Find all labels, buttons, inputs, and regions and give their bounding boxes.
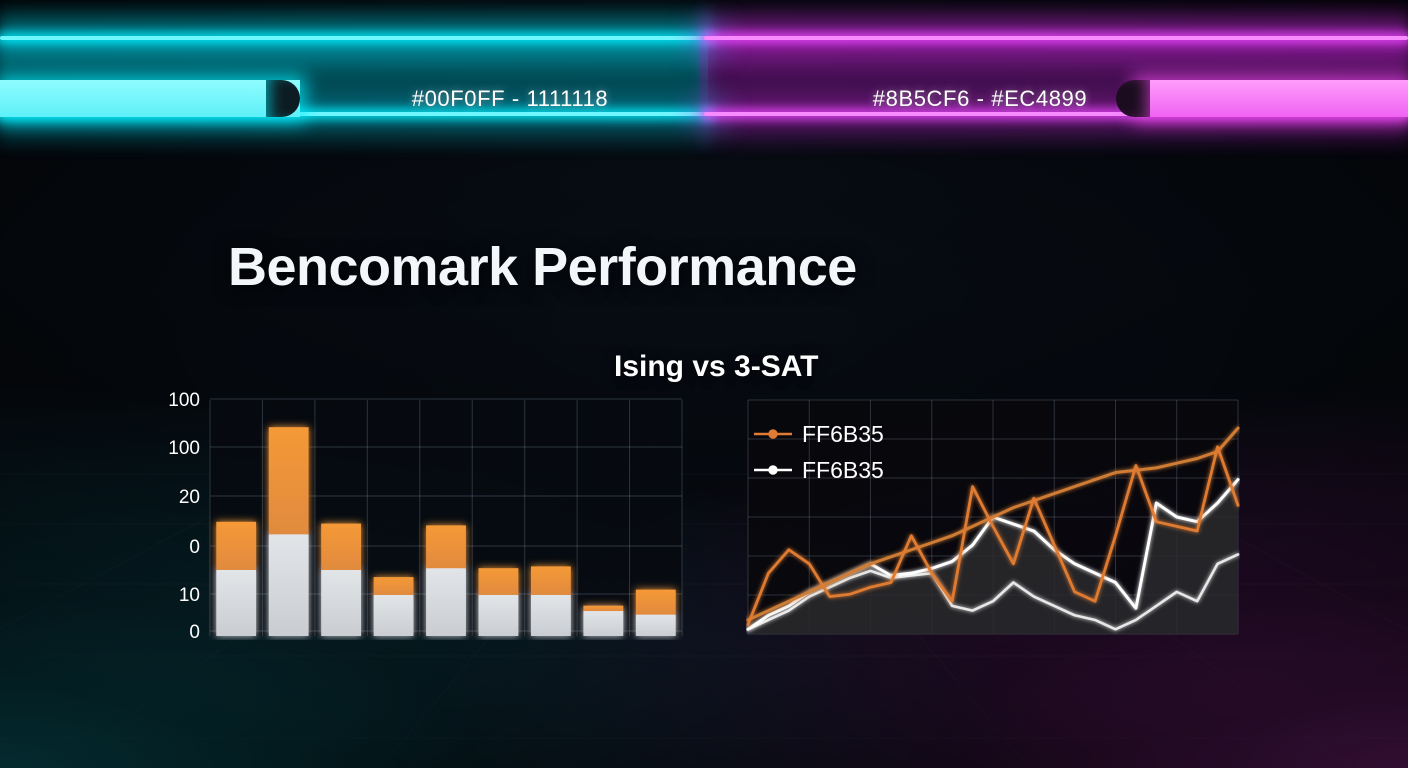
svg-text:0: 0: [189, 537, 200, 558]
bar-chart-panel: 100100200100: [166, 392, 700, 640]
line-chart-panel: FF6B35FF6B35: [746, 396, 1240, 640]
svg-text:0: 0: [189, 622, 200, 640]
palette-label-left: #00F0FF - 1111118: [300, 79, 720, 118]
bar-chart: 100100200100: [166, 392, 700, 640]
svg-text:100: 100: [168, 438, 200, 459]
slide-canvas: #00F0FF - 1111118 #8B5CF6 - #EC4899 Benc…: [0, 0, 1408, 768]
neon-line-top-left: [0, 36, 712, 40]
neon-bar-left: [0, 80, 300, 117]
neon-header: #00F0FF - 1111118 #8B5CF6 - #EC4899: [0, 0, 1408, 150]
svg-text:FF6B35: FF6B35: [802, 457, 884, 483]
line-chart: FF6B35FF6B35: [746, 396, 1240, 640]
svg-text:10: 10: [179, 585, 200, 606]
svg-text:FF6B35: FF6B35: [802, 421, 884, 447]
page-title: Bencomark Performance: [228, 236, 857, 298]
svg-text:100: 100: [168, 392, 200, 411]
chart-subtitle: Ising vs 3-SAT: [614, 350, 819, 384]
svg-text:20: 20: [179, 487, 200, 508]
neon-line-top-right: [704, 36, 1408, 40]
palette-label-right: #8B5CF6 - #EC4899: [820, 79, 1140, 118]
neon-bar-right: [1138, 80, 1408, 117]
